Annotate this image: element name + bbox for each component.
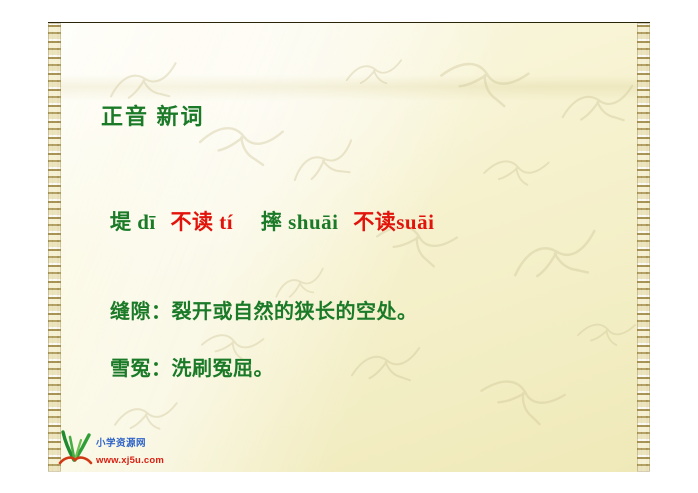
logo-site-url: www.xj5u.com [96,455,164,466]
pronunciation-item-correct-2: 摔 shuāi [261,210,339,234]
slide-background [48,23,650,472]
site-logo: 小学资源网 www.xj5u.com [52,427,202,469]
pronunciation-item-correct-1: 堤 dī [110,210,156,234]
decorative-border-right [637,23,650,472]
decorative-border-left [48,23,61,472]
pronunciation-item-wrong-1: 不读 tí [171,210,234,234]
logo-site-name: 小学资源网 [96,439,146,449]
presentation-slide: 正音 新词 堤 dī 不读 tí 摔 shuāi 不读suāi 缝隙：裂开或自然… [48,22,650,472]
slide-stage: 正音 新词 堤 dī 不读 tí 摔 shuāi 不读suāi 缝隙：裂开或自然… [0,0,698,493]
sprout-leaves-icon [52,427,98,467]
vocabulary-definition: 雪冤：洗刷冤屈。 [110,352,274,381]
page-title: 正音 新词 [101,99,205,131]
pronunciation-item-wrong-2: 不读suāi [353,210,434,234]
logo-text: 小学资源网 www.xj5u.com [96,434,164,468]
vocabulary-definition: 缝隙：裂开或自然的狭长的空处。 [110,295,418,324]
pronunciation-line: 堤 dī 不读 tí 摔 shuāi 不读suāi [110,206,434,236]
